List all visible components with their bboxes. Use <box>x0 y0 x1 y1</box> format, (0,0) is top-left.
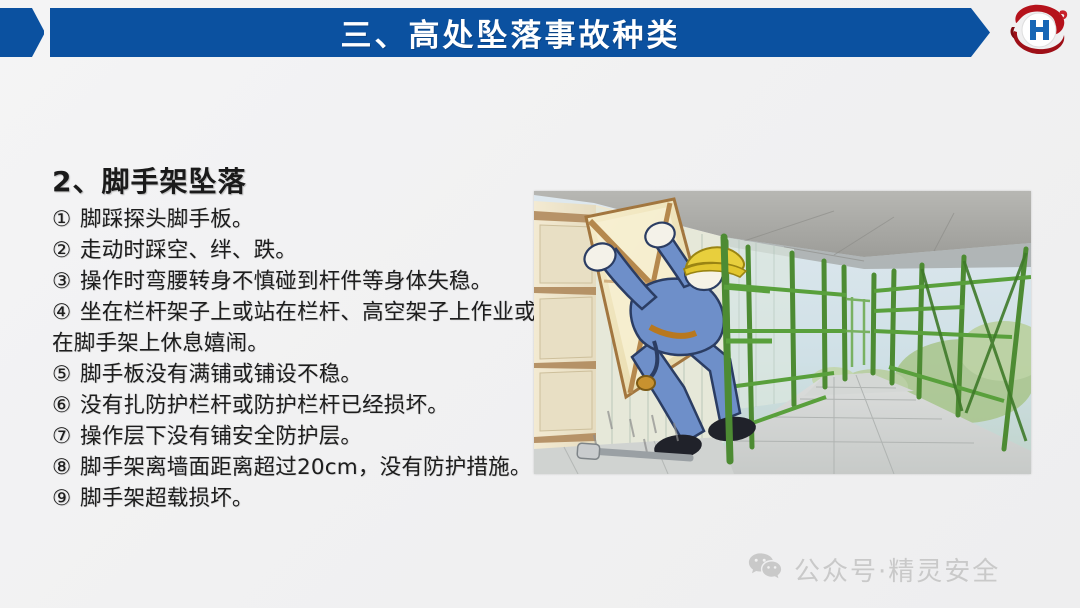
list-item-text: 脚手架超载损坏。 <box>80 486 254 511</box>
list-item: ⑤脚手板没有满铺或铺设不稳。 <box>52 359 544 390</box>
watermark: 公众号·精灵安全 <box>748 551 1000 588</box>
slide-title: 三、高处坠落事故种类 <box>50 8 971 57</box>
list-item-text: 坐在栏杆架子上或站在栏杆、高空架子上作业或在脚手架上休息嬉闹。 <box>52 300 536 356</box>
list-item-marker: ⑨ <box>52 483 80 514</box>
list-item-text: 脚踩探头脚手板。 <box>80 207 254 232</box>
cause-list: ①脚踩探头脚手板。 ②走动时踩空、绊、跌。 ③操作时弯腰转身不慎碰到杆件等身体失… <box>52 204 544 514</box>
list-item: ①脚踩探头脚手板。 <box>52 204 544 235</box>
list-item-text: 走动时踩空、绊、跌。 <box>80 238 297 263</box>
list-item-marker: ⑤ <box>52 359 80 390</box>
list-item-marker: ④ <box>52 297 80 328</box>
list-item: ⑦操作层下没有铺安全防护层。 <box>52 421 544 452</box>
list-item-marker: ⑥ <box>52 390 80 421</box>
list-item: ⑧脚手架离墙面距离超过20cm，没有防护措施。 <box>52 452 544 483</box>
section-heading: 2、脚手架坠落 <box>52 160 246 200</box>
company-logo <box>1008 1 1070 61</box>
slide-body: 2、脚手架坠落 ①脚踩探头脚手板。 ②走动时踩空、绊、跌。 ③操作时弯腰转身不慎… <box>0 57 1080 608</box>
scaffold-worker-illustration <box>534 191 1031 474</box>
list-item-marker: ① <box>52 204 80 235</box>
list-item: ⑨脚手架超载损坏。 <box>52 483 544 514</box>
list-item: ③操作时弯腰转身不慎碰到杆件等身体失稳。 <box>52 266 544 297</box>
list-item: ⑥没有扎防护栏杆或防护栏杆已经损坏。 <box>52 390 544 421</box>
slide-canvas: 三、高处坠落事故种类 2 <box>0 0 1080 608</box>
list-item-marker: ② <box>52 235 80 266</box>
list-item-text: 操作层下没有铺安全防护层。 <box>80 424 362 449</box>
list-item-text: 脚手板没有满铺或铺设不稳。 <box>80 362 362 387</box>
list-item-marker: ⑧ <box>52 452 80 483</box>
watermark-text: 公众号·精灵安全 <box>794 551 1000 588</box>
list-item: ②走动时踩空、绊、跌。 <box>52 235 544 266</box>
header-chevron-left <box>0 8 44 57</box>
list-item-text: 脚手架离墙面距离超过20cm，没有防护措施。 <box>80 455 532 480</box>
wechat-icon <box>748 552 782 587</box>
list-item: ④坐在栏杆架子上或站在栏杆、高空架子上作业或在脚手架上休息嬉闹。 <box>52 297 544 359</box>
list-item-text: 没有扎防护栏杆或防护栏杆已经损坏。 <box>80 393 449 418</box>
list-item-marker: ③ <box>52 266 80 297</box>
slide-header: 三、高处坠落事故种类 <box>0 8 1080 57</box>
list-item-text: 操作时弯腰转身不慎碰到杆件等身体失稳。 <box>80 269 492 294</box>
list-item-marker: ⑦ <box>52 421 80 452</box>
